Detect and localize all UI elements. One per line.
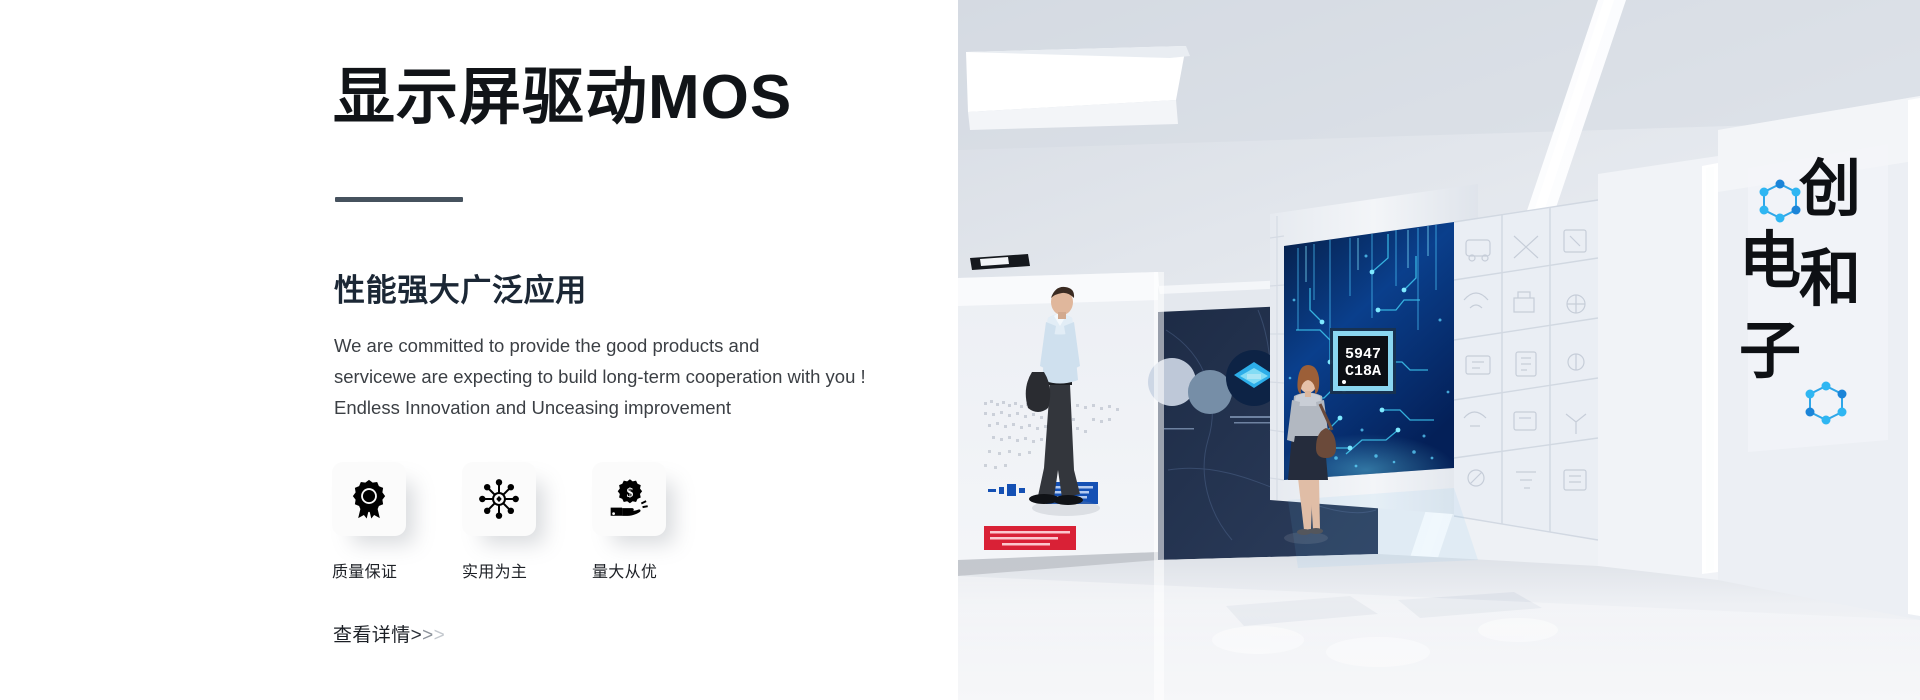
wall-sign-char-1: 创 xyxy=(1799,155,1861,224)
chevron-right-icon-1: > xyxy=(411,625,423,646)
chevron-right-icon-2: > xyxy=(422,625,434,646)
description-line-1: We are committed to provide the good pro… xyxy=(334,330,914,361)
feature-item-bulk-discount[interactable]: $ 量大从优 xyxy=(592,462,666,582)
feature-label-practical: 实用为主 xyxy=(462,558,536,582)
description-text: We are committed to provide the good pro… xyxy=(334,330,914,423)
description-line-2: servicewe are expecting to build long-te… xyxy=(334,361,914,392)
feature-label-bulk-discount: 量大从优 xyxy=(592,558,666,582)
chip-label-line-1: 5947 xyxy=(1345,346,1381,363)
wall-sign-char-3: 电 xyxy=(1739,227,1801,296)
hand-money-icon: $ xyxy=(607,477,651,521)
svg-text:$: $ xyxy=(626,485,633,500)
wall-sign-char-2: 和 xyxy=(1799,245,1861,314)
award-medal-icon xyxy=(347,477,391,521)
feature-badge-practical[interactable] xyxy=(462,462,536,536)
subtitle: 性能强大广泛应用 xyxy=(334,265,587,310)
network-hub-icon xyxy=(477,477,521,521)
feature-item-quality[interactable]: 质量保证 xyxy=(332,462,406,582)
showroom-photo: 5947 C18A xyxy=(958,0,1920,700)
feature-badge-quality[interactable] xyxy=(332,462,406,536)
promo-banner: 显示屏驱动MOS 性能强大广泛应用 We are committed to pr… xyxy=(0,0,1920,700)
wall-sign-char-4: 子 xyxy=(1739,317,1801,386)
feature-badge-bulk-discount[interactable]: $ xyxy=(592,462,666,536)
feature-list: 质量保证 xyxy=(332,462,666,582)
view-details-link[interactable]: 查看详情>>> xyxy=(333,620,445,647)
chevron-right-icon-3: > xyxy=(434,625,446,646)
title-divider xyxy=(335,197,463,202)
description-line-3: Endless Innovation and Unceasing improve… xyxy=(334,392,914,423)
feature-label-quality: 质量保证 xyxy=(332,558,406,582)
feature-item-practical[interactable]: 实用为主 xyxy=(462,462,536,582)
view-details-label: 查看详情 xyxy=(333,625,411,646)
banner-text-panel: 显示屏驱动MOS 性能强大广泛应用 We are committed to pr… xyxy=(0,0,958,700)
page-title: 显示屏驱动MOS xyxy=(333,63,792,132)
chip-label-line-2: C18A xyxy=(1345,363,1381,380)
